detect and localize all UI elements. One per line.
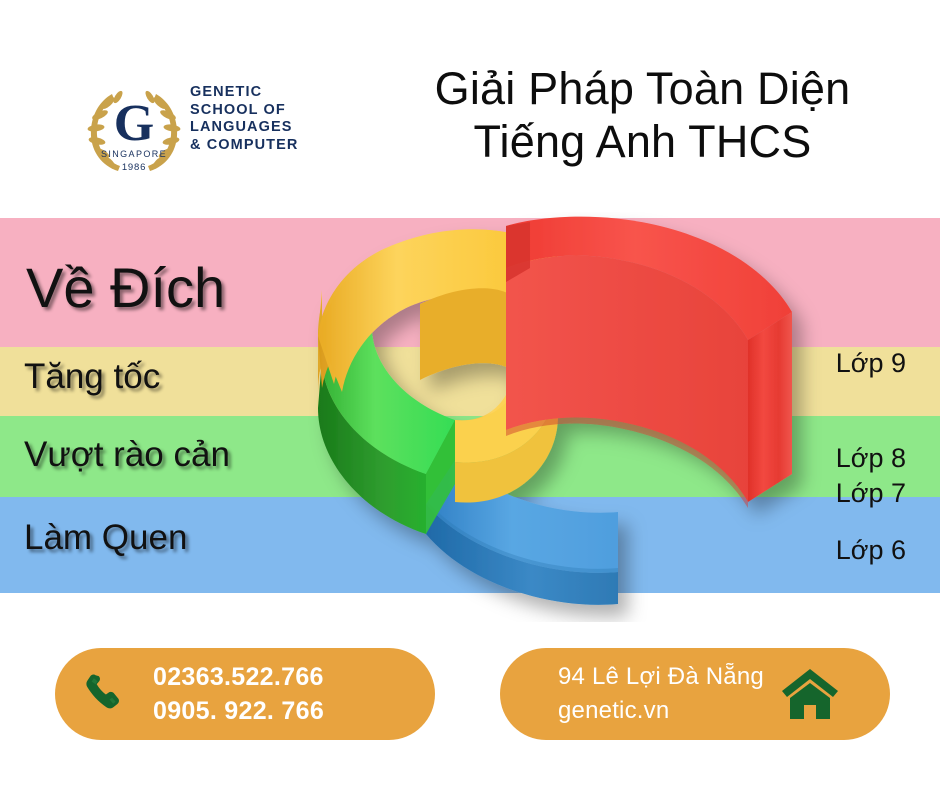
website-line: genetic.vn bbox=[558, 694, 764, 728]
stage-label-tang-toc: Tăng tốc bbox=[24, 357, 160, 397]
phone-line-2: 0905. 922. 766 bbox=[153, 694, 324, 728]
brand-logo: G SINGAPORE 1986 GENETIC SCHOOL OF LANGU… bbox=[78, 78, 368, 178]
title-line-1: Giải Pháp Toàn Diện bbox=[355, 62, 930, 115]
logo-line-4: & COMPUTER bbox=[190, 137, 370, 155]
grade-label-lop-7: Lớp 7 bbox=[836, 478, 906, 509]
grade-label-lop-9: Lớp 9 bbox=[836, 348, 906, 379]
grade-label-lop-6: Lớp 6 bbox=[836, 535, 906, 566]
chart-segment-lop9 bbox=[506, 217, 792, 508]
laurel-wreath-icon: G SINGAPORE 1986 bbox=[78, 78, 190, 178]
svg-text:SINGAPORE: SINGAPORE bbox=[101, 149, 167, 159]
address-contact-pill[interactable]: 94 Lê Lợi Đà Nẵng genetic.vn bbox=[500, 648, 890, 740]
poster-canvas: G SINGAPORE 1986 GENETIC SCHOOL OF LANGU… bbox=[0, 0, 940, 788]
svg-text:G: G bbox=[114, 95, 154, 152]
page-title: Giải Pháp Toàn Diện Tiếng Anh THCS bbox=[355, 62, 930, 168]
stepped-arc-3d-chart bbox=[300, 212, 830, 622]
phone-line-1: 02363.522.766 bbox=[153, 660, 324, 694]
logo-line-1: GENETIC bbox=[190, 84, 370, 102]
logo-line-3: LANGUAGES bbox=[190, 119, 370, 137]
brand-wordmark: GENETIC SCHOOL OF LANGUAGES & COMPUTER bbox=[190, 84, 370, 154]
phone-contact-pill[interactable]: 02363.522.766 0905. 922. 766 bbox=[55, 648, 435, 740]
stage-label-ve-dich: Về Đích bbox=[26, 255, 225, 320]
grade-label-lop-8: Lớp 8 bbox=[836, 443, 906, 474]
logo-line-2: SCHOOL OF bbox=[190, 102, 370, 120]
svg-text:1986: 1986 bbox=[122, 162, 146, 173]
house-icon bbox=[780, 665, 840, 723]
phone-numbers: 02363.522.766 0905. 922. 766 bbox=[153, 660, 324, 728]
phone-handset-icon bbox=[81, 671, 127, 717]
stage-label-lam-quen: Làm Quen bbox=[24, 518, 187, 558]
title-line-2: Tiếng Anh THCS bbox=[355, 115, 930, 168]
stage-label-vuot-rao-can: Vượt rào cản bbox=[24, 435, 230, 475]
address-line: 94 Lê Lợi Đà Nẵng bbox=[558, 660, 764, 694]
address-block: 94 Lê Lợi Đà Nẵng genetic.vn bbox=[558, 660, 764, 728]
